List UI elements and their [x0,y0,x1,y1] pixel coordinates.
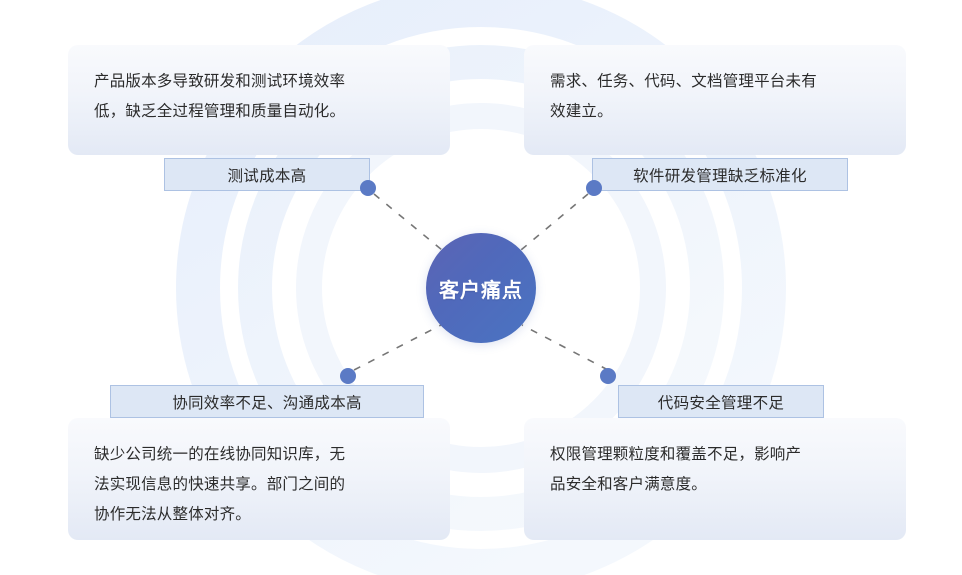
branch-chip-label-top-right: 软件研发管理缺乏标准化 [633,164,807,186]
connector-dot-bottom-right [600,368,616,384]
description-card-top-right: 需求、任务、代码、文档管理平台未有 效建立。 [524,45,906,155]
description-text-bottom-left: 缺少公司统一的在线协同知识库，无 法实现信息的快速共享。部门之间的 协作无法从整… [94,440,424,530]
branch-chip-bottom-left[interactable]: 协同效率不足、沟通成本高 [110,385,424,418]
description-text-top-right: 需求、任务、代码、文档管理平台未有 效建立。 [550,67,880,127]
description-card-top-left: 产品版本多导致研发和测试环境效率 低，缺乏全过程管理和质量自动化。 [68,45,450,155]
branch-chip-label-bottom-right: 代码安全管理不足 [658,391,784,413]
connector-dot-top-left [360,180,376,196]
connector-dot-bottom-left [340,368,356,384]
description-card-bottom-left: 缺少公司统一的在线协同知识库，无 法实现信息的快速共享。部门之间的 协作无法从整… [68,418,450,540]
branch-chip-label-bottom-left: 协同效率不足、沟通成本高 [172,391,362,413]
branch-chip-label-top-left: 测试成本高 [227,164,306,186]
center-node: 客户痛点 [426,233,536,343]
connector-line-bottom-right [522,325,608,370]
connector-line-bottom-left [354,325,441,370]
branch-chip-bottom-right[interactable]: 代码安全管理不足 [618,385,824,418]
branch-chip-top-left[interactable]: 测试成本高 [164,158,370,191]
branch-chip-top-right[interactable]: 软件研发管理缺乏标准化 [592,158,848,191]
connector-dot-top-right [586,180,602,196]
connector-line-top-left [374,194,442,250]
description-text-bottom-right: 权限管理颗粒度和覆盖不足，影响产 品安全和客户满意度。 [550,440,880,500]
description-card-bottom-right: 权限管理颗粒度和覆盖不足，影响产 品安全和客户满意度。 [524,418,906,540]
description-text-top-left: 产品版本多导致研发和测试环境效率 低，缺乏全过程管理和质量自动化。 [94,67,424,127]
center-node-label: 客户痛点 [439,274,523,303]
diagram-canvas: 客户痛点 产品版本多导致研发和测试环境效率 低，缺乏全过程管理和质量自动化。 测… [0,0,962,575]
connector-line-top-right [521,194,588,250]
